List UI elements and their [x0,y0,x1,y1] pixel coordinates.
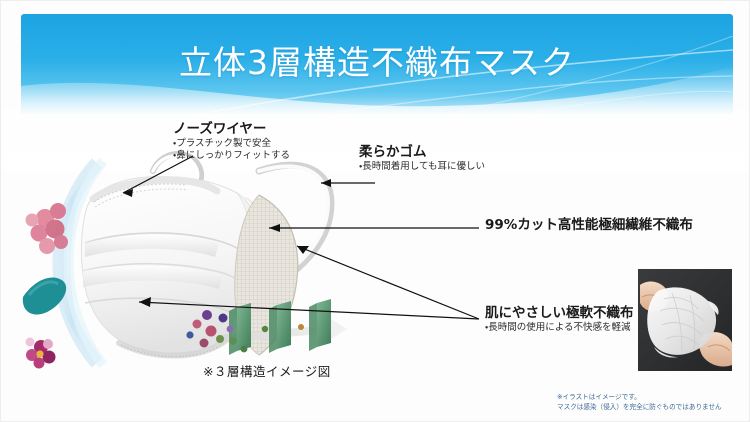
disclaimer-note: ※イラストはイメージです。 マスクは感染（侵入）を完全に防ぐものではありません [557,393,722,413]
callout-filter-layer: 99%カット高性能極細繊維不織布 [485,213,693,233]
callout-nose-wire: ノーズワイヤー ・プラスチック製で安全 ・鼻にしっかりフィットする [173,122,290,163]
callout-soft-rubber: 柔らかゴム ・長時間着用しても耳に優しい [359,145,485,173]
fabric-photo-image [638,269,732,371]
header-banner: 立体3層構造不織布マスク [21,14,733,114]
illustration-stage: ノーズワイヤー ・プラスチック製で安全 ・鼻にしっかりフィットする 柔らかゴム … [1,111,750,422]
callout-nose-wire-bullet-1: ・プラスチック製で安全 [173,138,290,151]
germ-cluster-magenta [26,338,56,369]
layer-diagram-caption: ※３層構造イメージ図 [203,361,331,380]
mask-illustration [81,154,331,357]
germ-cluster-pink [26,203,69,254]
germ-rod-teal [23,278,66,315]
callout-nose-wire-heading: ノーズワイヤー [173,122,290,138]
callout-nose-wire-bullet-2: ・鼻にしっかりフィットする [173,150,290,163]
page-title: 立体3層構造不織布マスク [21,36,733,84]
callout-soft-rubber-heading: 柔らかゴム [359,145,485,161]
callout-soft-rubber-bullet-1: ・長時間着用しても耳に優しい [359,161,485,174]
fabric-photo [638,269,732,371]
callout-skin-layer-bullet-1: ・長時間の使用による不快感を軽減 [485,322,634,335]
callout-skin-layer-heading: 肌にやさしい極軟不織布 [485,306,634,322]
disclaimer-line-1: ※イラストはイメージです。 [557,393,722,403]
poster-root: 立体3層構造不織布マスク [0,0,750,422]
disclaimer-line-2: マスクは感染（侵入）を完全に防ぐものではありません [557,403,722,413]
callout-filter-layer-heading: 99%カット高性能極細繊維不織布 [485,213,693,233]
callout-skin-layer: 肌にやさしい極軟不織布 ・長時間の使用による不快感を軽減 [485,306,634,334]
